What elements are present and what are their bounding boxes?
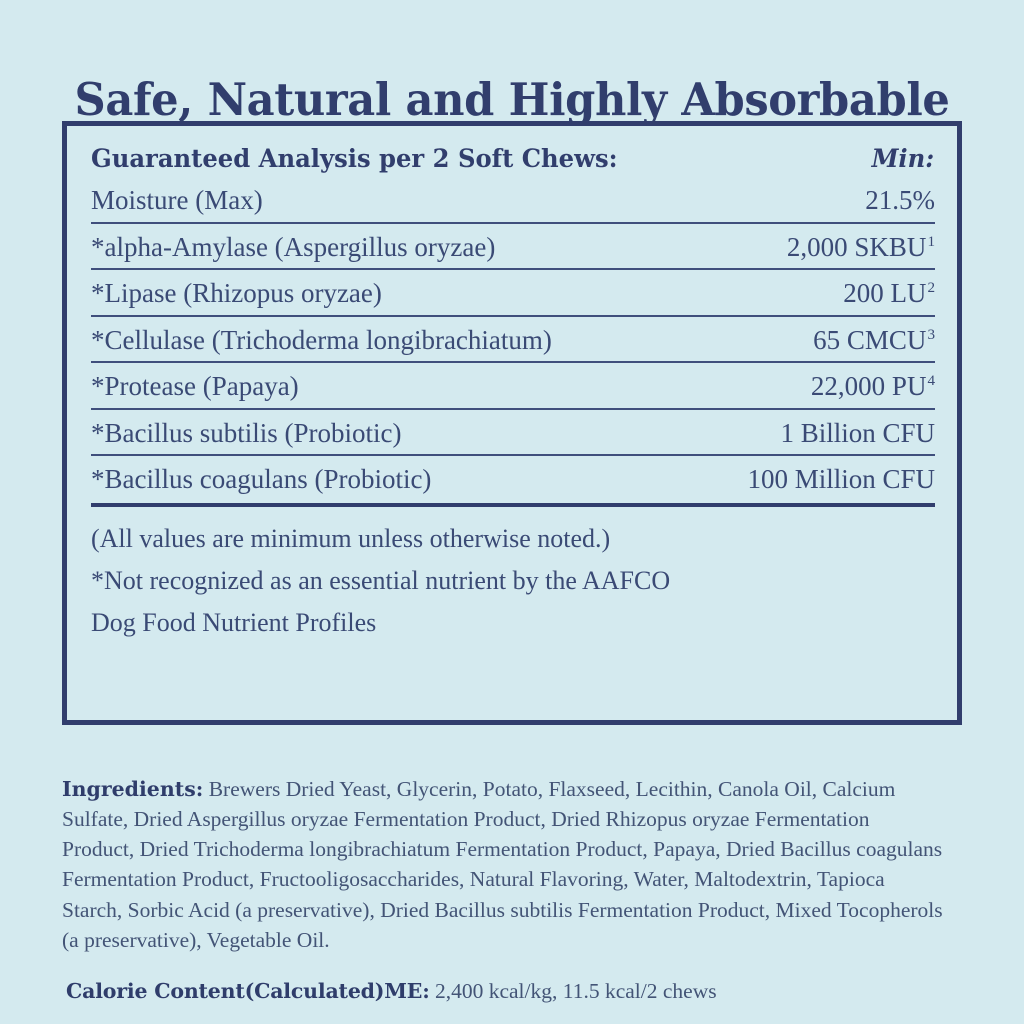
analysis-row-name: *Protease (Papaya)	[91, 373, 299, 401]
calorie-text: 2,400 kcal/kg, 11.5 kcal/2 chews	[430, 979, 717, 1003]
analysis-row-name: Moisture (Max)	[91, 187, 263, 215]
analysis-row-footnote-marker: 3	[926, 327, 935, 343]
analysis-row: *Cellulase (Trichoderma longibrachiatum)…	[91, 317, 935, 364]
page-title: Safe, Natural and Highly Absorbable	[20, 77, 1003, 122]
analysis-row-value: 100 Million CFU	[733, 466, 935, 494]
analysis-row-value-text: 1 Billion CFU	[780, 418, 935, 448]
analysis-row-name: *Bacillus subtilis (Probiotic)	[91, 420, 402, 448]
analysis-row-name: *Lipase (Rhizopus oryzae)	[91, 280, 382, 308]
analysis-row-name: *alpha-Amylase (Aspergillus oryzae)	[91, 234, 495, 262]
nutrition-label-page: Safe, Natural and Highly Absorbable Guar…	[0, 0, 1024, 1024]
analysis-header-value: Min:	[872, 144, 935, 173]
analysis-row-value: 200 LU2	[829, 280, 935, 308]
analysis-row-value: 1 Billion CFU	[766, 420, 935, 448]
note-line: (All values are minimum unless otherwise…	[91, 518, 935, 560]
analysis-row: *Protease (Papaya)22,000 PU4	[91, 363, 935, 410]
analysis-row-value-text: 22,000 PU	[811, 371, 927, 401]
analysis-row: *Lipase (Rhizopus oryzae)200 LU2	[91, 270, 935, 317]
analysis-rows: Moisture (Max)21.5%*alpha-Amylase (Asper…	[91, 181, 935, 507]
note-line: Dog Food Nutrient Profiles	[91, 602, 935, 644]
analysis-row-value-text: 2,000 SKBU	[787, 232, 927, 262]
analysis-header-row: Guaranteed Analysis per 2 Soft Chews: Mi…	[91, 144, 934, 181]
ingredients-label: Ingredients:	[62, 777, 203, 801]
analysis-row-value: 21.5%	[851, 187, 935, 215]
analysis-row: *Bacillus coagulans (Probiotic)100 Milli…	[91, 456, 935, 507]
guaranteed-analysis-panel: Guaranteed Analysis per 2 Soft Chews: Mi…	[62, 121, 962, 725]
analysis-row-value-text: 200 LU	[843, 278, 926, 308]
panel-inner: Guaranteed Analysis per 2 Soft Chews: Mi…	[67, 126, 957, 644]
ingredients-paragraph: Ingredients: Brewers Dried Yeast, Glycer…	[62, 774, 947, 956]
analysis-row-footnote-marker: 2	[926, 280, 935, 296]
analysis-row-value: 2,000 SKBU1	[773, 234, 935, 262]
analysis-row-name: *Bacillus coagulans (Probiotic)	[91, 466, 431, 494]
analysis-row-value-text: 65 CMCU	[813, 325, 926, 355]
analysis-row-footnote-marker: 1	[926, 234, 935, 250]
analysis-row-value: 65 CMCU3	[799, 327, 935, 355]
calorie-content-line: Calorie Content(Calculated)ME: 2,400 kca…	[66, 978, 966, 1006]
analysis-row-value-text: 100 Million CFU	[747, 464, 935, 494]
analysis-row-value: 22,000 PU4	[797, 373, 935, 401]
analysis-row: *Bacillus subtilis (Probiotic)1 Billion …	[91, 410, 935, 457]
analysis-row-value-text: 21.5%	[865, 185, 935, 215]
analysis-row-name: *Cellulase (Trichoderma longibrachiatum)	[91, 327, 552, 355]
analysis-row-footnote-marker: 4	[926, 373, 935, 389]
ingredients-text: Brewers Dried Yeast, Glycerin, Potato, F…	[62, 777, 943, 953]
analysis-row: Moisture (Max)21.5%	[91, 181, 935, 224]
analysis-row: *alpha-Amylase (Aspergillus oryzae)2,000…	[91, 224, 935, 271]
analysis-notes: (All values are minimum unless otherwise…	[91, 507, 935, 644]
note-line: *Not recognized as an essential nutrient…	[91, 560, 935, 602]
analysis-header-label: Guaranteed Analysis per 2 Soft Chews:	[91, 144, 618, 173]
calorie-label: Calorie Content(Calculated)ME:	[66, 979, 430, 1003]
